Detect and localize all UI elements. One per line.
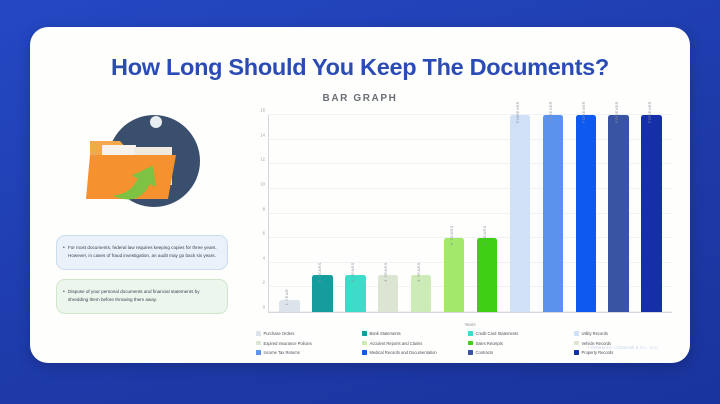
legend-label: Sales Receipts xyxy=(476,341,503,346)
legend-column: Bank StatementsAccident Reports and Clai… xyxy=(362,331,464,355)
note-text: For most documents, federal law requires… xyxy=(68,245,217,258)
bar[interactable]: 3 YEARS xyxy=(411,275,431,312)
note-box-disposal: • Dispose of your personal documents and… xyxy=(56,279,228,314)
legend-label: Utility Records xyxy=(582,331,608,336)
bar-value-label: 6 YEARS xyxy=(483,225,487,244)
y-axis-tick-label: 8 xyxy=(263,206,265,211)
legend-label: Medical Records and Documentation xyxy=(370,350,437,355)
bar-value-label: 6 YEARS xyxy=(450,225,454,244)
bar-slot: 3 YEARS xyxy=(372,115,405,312)
bar-value-label: FOREVER xyxy=(516,101,520,123)
legend-swatch-icon xyxy=(362,331,367,336)
legend-item[interactable]: Utility Records xyxy=(574,331,676,336)
legend-swatch-icon xyxy=(256,341,261,346)
y-axis-tick-label: 0 xyxy=(263,305,265,310)
bar-value-label: 3 YEARS xyxy=(417,262,421,281)
legend-label: Accident Reports and Claims xyxy=(370,341,423,346)
legend-swatch-icon xyxy=(256,331,261,336)
legend-swatch-icon xyxy=(574,341,579,346)
legend-swatch-icon xyxy=(468,341,473,346)
bar[interactable]: 3 YEARS xyxy=(312,275,332,312)
legend-item[interactable]: Income Tax Returns xyxy=(256,350,358,355)
bar-chart: 0246810121416 1 YEAR3 YEARS3 YEARS3 YEAR… xyxy=(242,111,674,339)
left-column: • For most documents, federal law requir… xyxy=(56,99,238,349)
legend-swatch-icon xyxy=(256,350,261,355)
bar-value-label: FOREVER xyxy=(549,101,553,123)
legend-swatch-icon xyxy=(574,331,579,336)
note-box-retention: • For most documents, federal law requir… xyxy=(56,235,228,270)
bar-value-label: FOREVER xyxy=(582,101,586,123)
bar[interactable]: 3 YEARS xyxy=(345,275,365,312)
legend-item[interactable]: Sales Receipts xyxy=(468,341,570,346)
legend-label: Purchase Orders xyxy=(264,331,295,336)
bar-slot: 3 YEARS xyxy=(306,115,339,312)
y-axis-tick-label: 14 xyxy=(260,132,265,137)
legend-label: Contracts xyxy=(476,350,494,355)
legend-label: Income Tax Returns xyxy=(264,350,300,355)
chart-legend: Purchase OrdersExpired Insurance Policie… xyxy=(256,331,676,355)
bar-slot: 1 YEAR xyxy=(273,115,306,312)
bar[interactable]: FOREVER xyxy=(510,115,530,312)
bar-value-label: FOREVER xyxy=(648,101,652,123)
legend-label: Credit Card Statements xyxy=(476,331,519,336)
bar-slot: 6 YEARS xyxy=(471,115,504,312)
bar-slot: FOREVER xyxy=(536,115,569,312)
bar[interactable]: FOREVER xyxy=(543,115,563,312)
legend-item[interactable]: Bank Statements xyxy=(362,331,464,336)
page-title: How Long Should You Keep The Documents? xyxy=(30,54,690,81)
y-axis-tick-label: 10 xyxy=(260,181,265,186)
y-axis-tick-label: 6 xyxy=(263,231,265,236)
bar-value-label: 3 YEARS xyxy=(318,262,322,281)
bar[interactable]: FOREVER xyxy=(576,115,596,312)
bar-value-label: FOREVER xyxy=(615,101,619,123)
bar-slot: FOREVER xyxy=(569,115,602,312)
legend-swatch-icon xyxy=(362,350,367,355)
bar-slot: 6 YEARS xyxy=(438,115,471,312)
bar-slot: FOREVER xyxy=(602,115,635,312)
bar-slot: 3 YEARS xyxy=(339,115,372,312)
legend-swatch-icon xyxy=(468,331,473,336)
note-text: Dispose of your personal documents and f… xyxy=(68,289,200,302)
bar[interactable]: 6 YEARS xyxy=(444,238,464,312)
y-axis-tick-label: 2 xyxy=(263,280,265,285)
y-axis-tick-label: 4 xyxy=(263,255,265,260)
legend-label: Property Records xyxy=(582,350,614,355)
bullet-icon: • xyxy=(63,288,65,297)
legend-column: Purchase OrdersExpired Insurance Policie… xyxy=(256,331,358,355)
legend-item[interactable]: Credit Card Statements xyxy=(468,331,570,336)
legend-swatch-icon xyxy=(362,341,367,346)
bar[interactable]: FOREVER xyxy=(641,115,661,312)
legend-label: Expired Insurance Policies xyxy=(264,341,312,346)
plot-area: 0246810121416 1 YEAR3 YEARS3 YEARS3 YEAR… xyxy=(268,115,672,313)
reference-footer: • Reference: O'Donnell & Co., LLC xyxy=(588,345,658,350)
legend-item[interactable]: Expired Insurance Policies xyxy=(256,341,358,346)
bar[interactable]: 6 YEARS xyxy=(477,238,497,312)
slide-background: How Long Should You Keep The Documents? … xyxy=(0,0,720,404)
x-axis-label: Years xyxy=(268,322,672,327)
y-axis-tick-label: 12 xyxy=(260,157,265,162)
legend-item[interactable]: Purchase Orders xyxy=(256,331,358,336)
legend-label: Bank Statements xyxy=(370,331,401,336)
legend-item[interactable]: Medical Records and Documentation xyxy=(362,350,464,355)
bar-slot: FOREVER xyxy=(503,115,536,312)
legend-item[interactable]: Accident Reports and Claims xyxy=(362,341,464,346)
bar-series: 1 YEAR3 YEARS3 YEARS3 YEARS3 YEARS6 YEAR… xyxy=(269,115,672,312)
legend-column: Utility RecordsVehicle RecordsProperty R… xyxy=(574,331,676,355)
content-card: How Long Should You Keep The Documents? … xyxy=(30,27,690,363)
bar-slot: FOREVER xyxy=(635,115,668,312)
bar-slot: 3 YEARS xyxy=(405,115,438,312)
bar-value-label: 3 YEARS xyxy=(384,262,388,281)
legend-swatch-icon xyxy=(574,350,579,355)
legend-item[interactable]: Contracts xyxy=(468,350,570,355)
bar[interactable]: FOREVER xyxy=(608,115,628,312)
bar-value-label: 3 YEARS xyxy=(351,262,355,281)
bullet-icon: • xyxy=(63,244,65,253)
bar[interactable]: 1 YEAR xyxy=(279,300,299,312)
legend-swatch-icon xyxy=(468,350,473,355)
bar-value-label: 1 YEAR xyxy=(285,288,289,304)
bar[interactable]: 3 YEARS xyxy=(378,275,398,312)
folder-archive-icon xyxy=(72,105,222,223)
legend-item[interactable]: Property Records xyxy=(574,350,676,355)
y-axis-tick-label: 16 xyxy=(260,108,265,113)
legend-column: Credit Card StatementsSales ReceiptsCont… xyxy=(468,331,570,355)
